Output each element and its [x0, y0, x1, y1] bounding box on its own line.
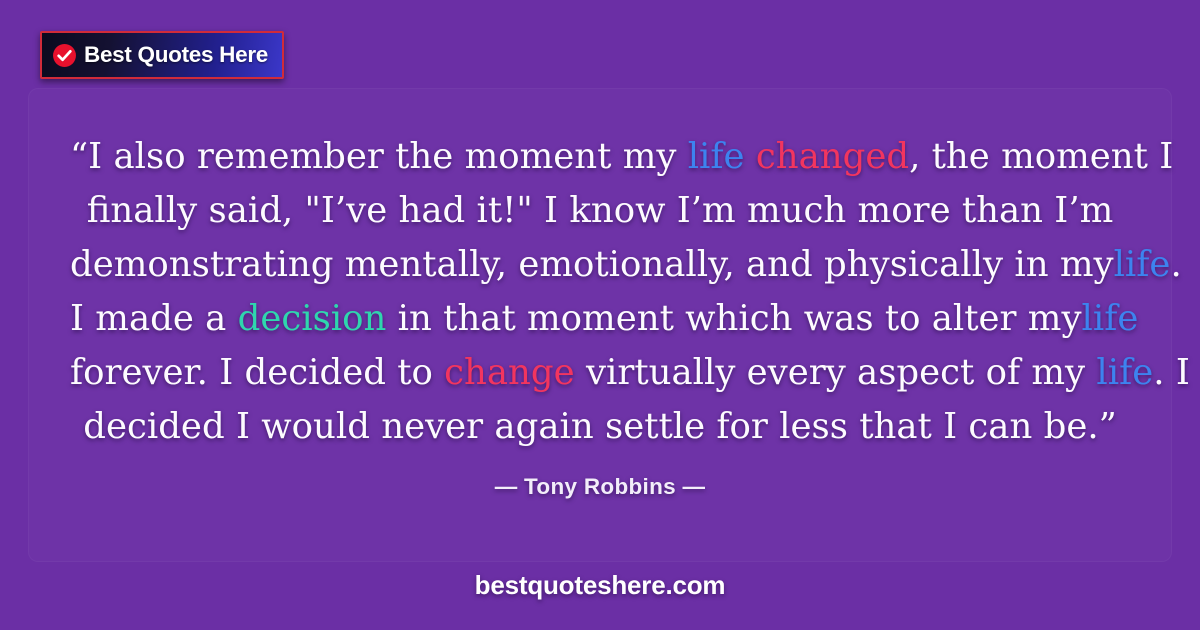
quote-run: [745, 136, 756, 177]
quote-line: “I also remember the moment my life chan…: [70, 130, 1130, 184]
quote-run: . I: [1153, 352, 1190, 393]
quote-run: finally said, "I’ve had it!" I know I’m …: [87, 190, 1114, 231]
quote-line: forever. I decided to change virtually e…: [70, 346, 1130, 400]
quote-attribution: — Tony Robbins —: [0, 474, 1200, 500]
quote-line: decided I would never again settle for l…: [70, 400, 1130, 454]
quote-run: , the moment I: [909, 136, 1173, 177]
quote-run: in that moment which was to alter my: [386, 298, 1081, 339]
quote-run: “I also remember the moment my: [70, 136, 688, 177]
quote-keyword: life: [1114, 244, 1171, 285]
quote-run: .: [1170, 244, 1181, 285]
quote-keyword: change: [444, 352, 575, 393]
quote-keyword: life: [688, 136, 745, 177]
quote-line: demonstrating mentally, emotionally, and…: [70, 238, 1130, 292]
quote-run: decided I would never again settle for l…: [83, 406, 1117, 447]
quote-keyword: changed: [756, 136, 909, 177]
quote-run: virtually every aspect of my: [575, 352, 1097, 393]
quote-line: I made a decision in that moment which w…: [70, 292, 1130, 346]
site-url-footer: bestquoteshere.com: [0, 570, 1200, 601]
quote-text: “I also remember the moment my life chan…: [0, 130, 1200, 454]
brand-badge-label: Best Quotes Here: [84, 44, 268, 67]
quote-keyword: decision: [238, 298, 387, 339]
quote-run: demonstrating mentally, emotionally, and…: [70, 244, 1114, 285]
quote-keyword: life: [1096, 352, 1153, 393]
quote-line: finally said, "I’ve had it!" I know I’m …: [70, 184, 1130, 238]
quote-run: forever. I decided to: [70, 352, 444, 393]
quote-run: I made a: [70, 298, 238, 339]
check-circle-icon: [52, 43, 77, 68]
quote-keyword: life: [1082, 298, 1139, 339]
brand-badge[interactable]: Best Quotes Here: [40, 31, 284, 79]
